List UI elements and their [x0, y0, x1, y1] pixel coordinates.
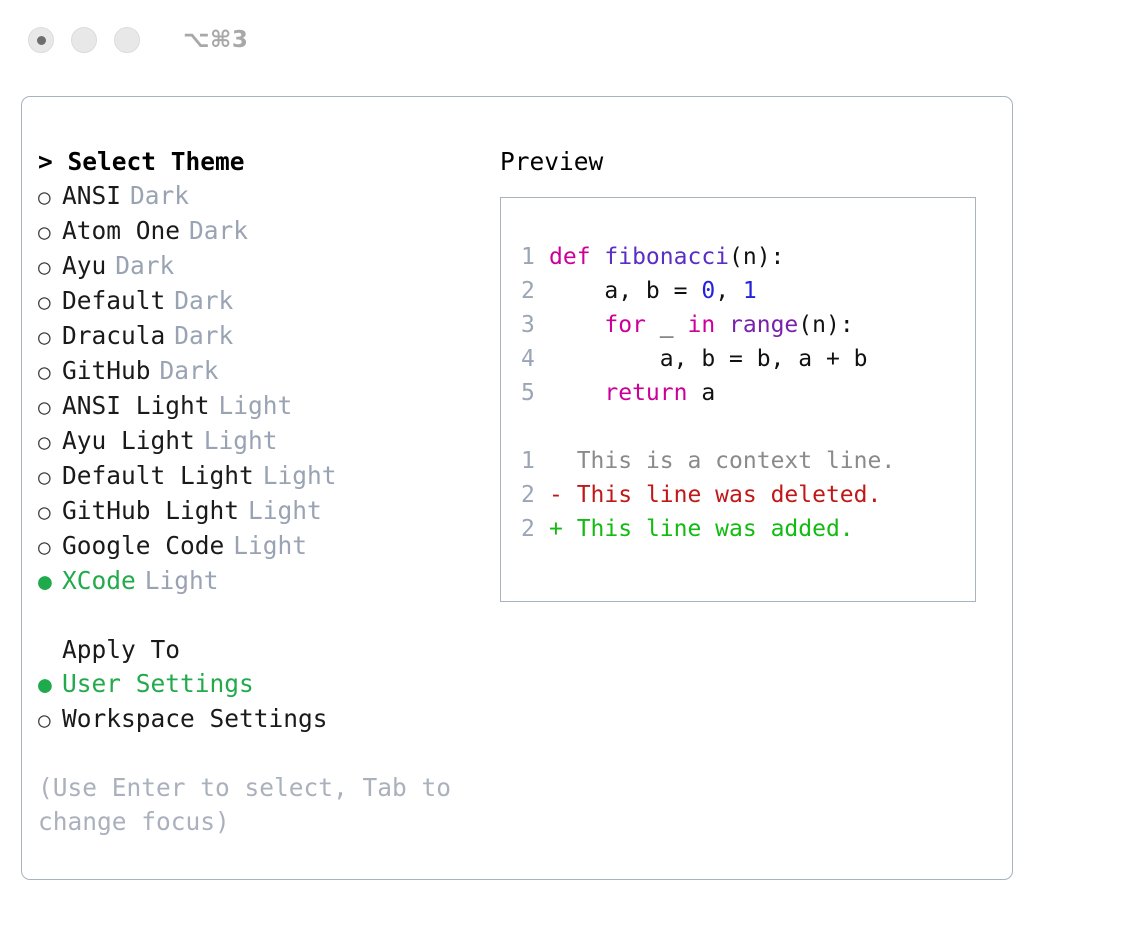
preview-column: Preview 1def fibonacci(n):2 a, b = 0, 13… — [500, 145, 990, 602]
theme-option-tag: Light — [145, 564, 219, 598]
code-line-number: 5 — [521, 376, 549, 410]
theme-option-atom-one[interactable]: ○Atom OneDark — [38, 214, 488, 249]
apply-to-option-workspace-settings[interactable]: ○Workspace Settings — [38, 702, 488, 737]
code-line: 4 a, b = b, a + b — [521, 342, 975, 376]
diff-line-ctx: 1 This is a context line. — [521, 444, 975, 478]
radio-unselected-icon: ○ — [38, 250, 62, 284]
code-token-num: 0 — [701, 278, 715, 304]
code-token-fn: fibonacci — [604, 244, 729, 270]
diff-marker: - — [549, 478, 577, 512]
code-line-number: 4 — [521, 342, 549, 376]
code-token-pln: , — [715, 278, 743, 304]
theme-option-github-light[interactable]: ○GitHub LightLight — [38, 494, 488, 529]
theme-option-default[interactable]: ○DefaultDark — [38, 284, 488, 319]
theme-option-tag: Dark — [130, 179, 189, 213]
code-line-number: 3 — [521, 308, 549, 342]
theme-option-xcode[interactable]: ●XCodeLight — [38, 564, 488, 599]
code-token-kw: return — [604, 380, 687, 406]
theme-option-ayu[interactable]: ○AyuDark — [38, 249, 488, 284]
theme-option-label: Default Light — [62, 459, 254, 493]
code-line: 1def fibonacci(n): — [521, 240, 975, 274]
apply-to-header: Apply To — [38, 633, 488, 667]
code-line-content: a, b = b, a + b — [549, 342, 868, 376]
theme-option-google-code[interactable]: ○Google CodeLight — [38, 529, 488, 564]
diff-line-number: 1 — [521, 444, 549, 478]
theme-option-label: XCode — [62, 564, 136, 598]
theme-option-label: Ayu Light — [62, 424, 195, 458]
diff-line-del: 2- This line was deleted. — [521, 478, 975, 512]
apply-to-option-label: User Settings — [62, 667, 254, 701]
window-controls — [28, 27, 140, 53]
theme-option-label: Atom One — [62, 214, 180, 248]
theme-option-tag: Dark — [115, 249, 174, 283]
diff-line-number: 2 — [521, 512, 549, 546]
window-dot-2[interactable] — [71, 27, 97, 53]
theme-list-column: > Select Theme ○ANSIDark○Atom OneDark○Ay… — [38, 145, 488, 839]
code-token-call: range — [729, 312, 798, 338]
code-token-kw: def — [549, 244, 604, 270]
diff-line-text: This line was added. — [577, 512, 854, 546]
radio-selected-icon: ● — [38, 668, 62, 702]
theme-option-tag: Dark — [189, 214, 248, 248]
diff-line-number: 2 — [521, 478, 549, 512]
code-token-kw: for — [604, 312, 646, 338]
theme-option-tag: Light — [248, 494, 322, 528]
code-line: 2 a, b = 0, 1 — [521, 274, 975, 308]
keyboard-hint-text: (Use Enter to select, Tab to change focu… — [38, 771, 458, 839]
theme-option-label: ANSI Light — [62, 389, 210, 423]
theme-option-dracula[interactable]: ○DraculaDark — [38, 319, 488, 354]
theme-option-tag: Light — [263, 459, 337, 493]
apply-to-list: ●User Settings○Workspace Settings — [38, 667, 488, 737]
preview-box: 1def fibonacci(n):2 a, b = 0, 13 for _ i… — [500, 197, 976, 602]
radio-unselected-icon: ○ — [38, 390, 62, 424]
radio-unselected-icon: ○ — [38, 320, 62, 354]
code-token-pln — [549, 380, 604, 406]
theme-option-label: ANSI — [62, 179, 121, 213]
theme-option-ayu-light[interactable]: ○Ayu LightLight — [38, 424, 488, 459]
keyboard-shortcut-label: ⌥⌘3 — [183, 27, 248, 53]
theme-option-tag: Light — [204, 424, 278, 458]
diff-marker: + — [549, 512, 577, 546]
code-token-pln: (n): — [798, 312, 853, 338]
theme-option-tag: Light — [219, 389, 293, 423]
theme-option-tag: Light — [233, 529, 307, 563]
radio-unselected-icon: ○ — [38, 215, 62, 249]
radio-unselected-icon: ○ — [38, 425, 62, 459]
theme-option-label: GitHub Light — [62, 494, 239, 528]
theme-option-github[interactable]: ○GitHubDark — [38, 354, 488, 389]
code-line: 5 return a — [521, 376, 975, 410]
code-line-content: return a — [549, 376, 715, 410]
code-token-pln: (n): — [729, 244, 784, 270]
theme-option-label: Ayu — [62, 249, 106, 283]
theme-option-label: Dracula — [62, 319, 165, 353]
code-token-pln — [549, 312, 604, 338]
radio-unselected-icon: ○ — [38, 355, 62, 389]
code-line: 3 for _ in range(n): — [521, 308, 975, 342]
code-token-kw: in — [687, 312, 715, 338]
code-line-number: 1 — [521, 240, 549, 274]
theme-option-tag: Dark — [160, 354, 219, 388]
code-line-content: def fibonacci(n): — [549, 240, 784, 274]
preview-title: Preview — [500, 145, 990, 179]
radio-unselected-icon: ○ — [38, 180, 62, 214]
diff-marker — [549, 444, 577, 478]
diff-line-text: This line was deleted. — [577, 478, 882, 512]
window-dot-active[interactable] — [28, 27, 54, 53]
theme-option-label: Google Code — [62, 529, 224, 563]
radio-unselected-icon: ○ — [38, 530, 62, 564]
diff-line-add: 2+ This line was added. — [521, 512, 975, 546]
code-token-num: 1 — [743, 278, 757, 304]
preview-spacer — [521, 410, 975, 444]
window-titlebar: ⌥⌘3 — [0, 0, 1140, 80]
code-token-pln: _ — [646, 312, 688, 338]
window-dot-active-indicator — [37, 36, 46, 45]
theme-option-tag: Dark — [174, 319, 233, 353]
theme-option-label: GitHub — [62, 354, 151, 388]
theme-option-ansi-light[interactable]: ○ANSI LightLight — [38, 389, 488, 424]
radio-unselected-icon: ○ — [38, 285, 62, 319]
select-theme-header: > Select Theme — [38, 145, 488, 179]
code-line-content: for _ in range(n): — [549, 308, 854, 342]
window-dot-3[interactable] — [114, 27, 140, 53]
code-sample: 1def fibonacci(n):2 a, b = 0, 13 for _ i… — [521, 240, 975, 410]
radio-unselected-icon: ○ — [38, 460, 62, 494]
code-line-content: a, b = 0, 1 — [549, 274, 757, 308]
radio-selected-icon: ● — [38, 565, 62, 599]
radio-unselected-icon: ○ — [38, 703, 62, 737]
theme-list: ○ANSIDark○Atom OneDark○AyuDark○DefaultDa… — [38, 179, 488, 599]
code-token-pln — [715, 312, 729, 338]
theme-option-label: Default — [62, 284, 165, 318]
diff-line-text: This is a context line. — [577, 444, 896, 478]
apply-to-option-label: Workspace Settings — [62, 702, 328, 736]
theme-selector-panel: > Select Theme ○ANSIDark○Atom OneDark○Ay… — [21, 96, 1013, 880]
code-token-pln: a — [687, 380, 715, 406]
code-token-pln: a, b = b, a + b — [549, 346, 868, 372]
theme-option-tag: Dark — [174, 284, 233, 318]
code-line-number: 2 — [521, 274, 549, 308]
theme-option-ansi[interactable]: ○ANSIDark — [38, 179, 488, 214]
radio-unselected-icon: ○ — [38, 495, 62, 529]
code-token-pln: a, b = — [549, 278, 701, 304]
diff-sample: 1 This is a context line.2- This line wa… — [521, 444, 975, 546]
theme-option-default-light[interactable]: ○Default LightLight — [38, 459, 488, 494]
apply-to-option-user-settings[interactable]: ●User Settings — [38, 667, 488, 702]
